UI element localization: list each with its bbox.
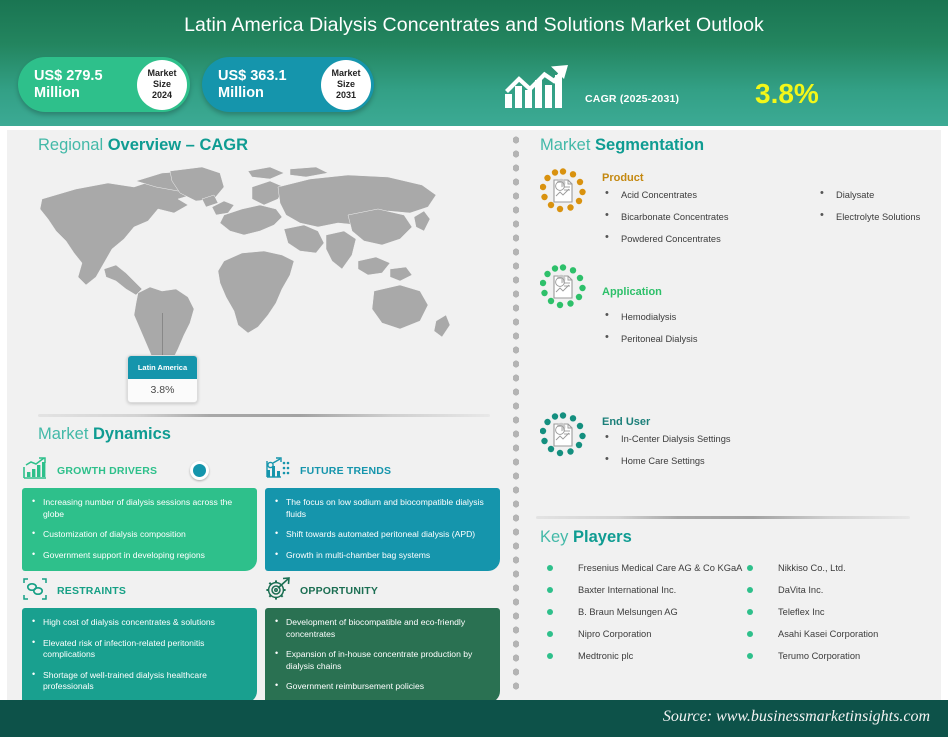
restraints-box: High cost of dialysis concentrates & sol…: [22, 608, 257, 703]
segmentation-title-light: Market: [540, 136, 595, 154]
end-user-items-col1: In-Center Dialysis Settings Home Care Se…: [602, 434, 731, 467]
dynamics-panel-growth-drivers: GROWTH DRIVERS Increasing number of dial…: [22, 458, 257, 571]
badge-line-3: 2031: [336, 90, 356, 101]
document-chart-dots-icon: [540, 168, 586, 214]
segmentation-block-product: Product Acid Concentrates Bicarbonate Co…: [540, 168, 940, 268]
list-item: Development of biocompatible and eco-fri…: [273, 617, 490, 640]
list-item: Shortage of well-trained dialysis health…: [30, 670, 247, 693]
list-item: Powdered Concentrates: [602, 234, 729, 245]
key-players-column-2: Nikkiso Co., Ltd. DaVita Inc. Teleflex I…: [744, 562, 944, 672]
segmentation-title-bold: Segmentation: [595, 136, 704, 154]
segment-name-application: Application: [602, 286, 662, 298]
cagr-value: 3.8%: [755, 78, 819, 110]
list-item: Dialysate: [817, 190, 920, 201]
list-item: Customization of dialysis composition: [30, 529, 247, 541]
future-trends-header: FUTURE TRENDS: [265, 458, 500, 484]
gear-target-arrow-icon: [265, 577, 291, 606]
dynamics-title-light: Market: [38, 425, 93, 443]
market-size-2024-value-line1: US$ 279.5: [34, 68, 103, 84]
footer-bar: Source: www.businessmarketinsights.com: [0, 700, 948, 737]
application-items-col1: Hemodialysis Peritoneal Dialysis: [602, 312, 697, 345]
trend-analytics-icon: [265, 457, 291, 486]
list-item: Nipro Corporation: [544, 628, 744, 640]
list-item: Asahi Kasei Corporation: [744, 628, 944, 640]
badge-line-1: Market: [331, 68, 360, 79]
segment-name-product: Product: [602, 172, 644, 184]
list-item: Nikkiso Co., Ltd.: [744, 562, 944, 574]
list-item: Baxter International Inc.: [544, 584, 744, 596]
list-item: B. Braun Melsungen AG: [544, 606, 744, 618]
restraints-header: RESTRAINTS: [22, 578, 257, 604]
dynamics-panel-restraints: RESTRAINTS High cost of dialysis concent…: [22, 578, 257, 703]
list-item: High cost of dialysis concentrates & sol…: [30, 617, 247, 629]
broken-chain-icon: [22, 577, 48, 606]
badge-line-2: Size: [337, 79, 355, 90]
list-item: Increasing number of dialysis sessions a…: [30, 497, 247, 520]
list-item: Home Care Settings: [602, 456, 731, 467]
growth-drivers-box: Increasing number of dialysis sessions a…: [22, 488, 257, 571]
market-size-2031-badge: Market Size 2031: [321, 60, 371, 110]
opportunity-list: Development of biocompatible and eco-fri…: [273, 617, 490, 693]
market-size-2024-value: US$ 279.5 Million: [18, 68, 137, 102]
world-map: [38, 165, 498, 405]
badge-line-3: 2024: [152, 90, 172, 101]
market-size-2024-value-line2: Million: [34, 85, 137, 102]
list-item: Growth in multi-chamber bag systems: [273, 550, 490, 562]
future-trends-list: The focus on low sodium and biocompatibl…: [273, 497, 490, 561]
list-item: Teleflex Inc: [744, 606, 944, 618]
divider-above-key-players: [536, 516, 910, 519]
list-item: Government reimbursement policies: [273, 681, 490, 693]
future-trends-box: The focus on low sodium and biocompatibl…: [265, 488, 500, 571]
key-players-title-bold: Players: [573, 528, 632, 546]
future-trends-label: FUTURE TRENDS: [300, 465, 391, 477]
market-size-2031-value-line2: Million: [218, 85, 321, 102]
divider-above-dynamics: [38, 414, 490, 417]
opportunity-header: OPPORTUNITY: [265, 578, 500, 604]
market-segmentation-title: Market Segmentation: [540, 136, 704, 155]
segment-name-end-user: End User: [602, 416, 650, 428]
bar-chart-growth-icon: [22, 457, 48, 486]
list-item: Electrolyte Solutions: [817, 212, 920, 223]
market-size-2031-value-line1: US$ 363.1: [218, 68, 287, 84]
list-item: Fresenius Medical Care AG & Co KGaA: [544, 562, 744, 574]
list-item: The focus on low sodium and biocompatibl…: [273, 497, 490, 520]
key-players-title: Key Players: [540, 528, 632, 547]
key-players-list-2: Nikkiso Co., Ltd. DaVita Inc. Teleflex I…: [744, 562, 944, 662]
list-item: Government support in developing regions: [30, 550, 247, 562]
pin-stem: [162, 313, 163, 358]
source-text: Source: www.businessmarketinsights.com: [663, 708, 930, 726]
list-item: Terumo Corporation: [744, 650, 944, 662]
segment-items-product: Acid Concentrates Bicarbonate Concentrat…: [602, 190, 729, 256]
badge-line-2: Size: [153, 79, 171, 90]
opportunity-label: OPPORTUNITY: [300, 585, 378, 597]
page-title: Latin America Dialysis Concentrates and …: [0, 14, 948, 37]
regional-title-bold: Overview – CAGR: [108, 136, 248, 154]
restraints-label: RESTRAINTS: [57, 585, 126, 597]
product-items-col2: Dialysate Electrolyte Solutions: [817, 190, 920, 234]
list-item: In-Center Dialysis Settings: [602, 434, 731, 445]
vertical-dotted-divider: [513, 133, 519, 693]
restraints-list: High cost of dialysis concentrates & sol…: [30, 617, 247, 693]
growth-drivers-header: GROWTH DRIVERS: [22, 458, 257, 484]
list-item: Hemodialysis: [602, 312, 697, 323]
key-players-column-1: Fresenius Medical Care AG & Co KGaA Baxt…: [544, 562, 744, 672]
latin-america-callout: Latin America 3.8%: [127, 355, 198, 403]
growth-drivers-list: Increasing number of dialysis sessions a…: [30, 497, 247, 561]
product-items-col1: Acid Concentrates Bicarbonate Concentrat…: [602, 190, 729, 245]
regional-overview-title: Regional Overview – CAGR: [38, 136, 248, 155]
list-item: Medtronic plc: [544, 650, 744, 662]
document-chart-dots-icon: [540, 264, 586, 310]
cagr-label: CAGR (2025-2031): [585, 93, 679, 105]
dynamics-panel-opportunity: OPPORTUNITY Development of biocompatible…: [265, 578, 500, 703]
segmentation-block-application: Application Hemodialysis Peritoneal Dial…: [540, 264, 940, 364]
list-item: Elevated risk of infection-related perit…: [30, 638, 247, 661]
market-size-2031-value: US$ 363.1 Million: [202, 68, 321, 102]
regional-title-light: Regional: [38, 136, 108, 154]
market-dynamics-title: Market Dynamics: [38, 425, 171, 444]
document-chart-dots-icon: [540, 412, 586, 458]
list-item: Shift towards automated peritoneal dialy…: [273, 529, 490, 541]
market-size-pill-2031: US$ 363.1 Million Market Size 2031: [202, 57, 374, 112]
list-item: DaVita Inc.: [744, 584, 944, 596]
dynamics-panel-future-trends: FUTURE TRENDS The focus on low sodium an…: [265, 458, 500, 571]
infographic-root: Latin America Dialysis Concentrates and …: [0, 0, 948, 737]
key-players-title-light: Key: [540, 528, 573, 546]
segment-items-application: Hemodialysis Peritoneal Dialysis: [602, 312, 697, 356]
segment-items-end-user: In-Center Dialysis Settings Home Care Se…: [602, 434, 731, 478]
growth-drivers-label: GROWTH DRIVERS: [57, 465, 157, 477]
opportunity-box: Development of biocompatible and eco-fri…: [265, 608, 500, 703]
callout-cagr-value: 3.8%: [128, 379, 197, 402]
list-item: Peritoneal Dialysis: [602, 334, 697, 345]
key-players-list-1: Fresenius Medical Care AG & Co KGaA Baxt…: [544, 562, 744, 662]
list-item: Acid Concentrates: [602, 190, 729, 201]
list-item: Expansion of in-house concentrate produc…: [273, 649, 490, 672]
callout-region-label: Latin America: [128, 356, 197, 379]
dynamics-title-bold: Dynamics: [93, 425, 171, 443]
growth-chart-arrow-icon: [503, 62, 569, 115]
market-size-2024-badge: Market Size 2024: [137, 60, 187, 110]
segmentation-block-end-user: End User In-Center Dialysis Settings Hom…: [540, 412, 940, 502]
badge-line-1: Market: [147, 68, 176, 79]
market-size-pill-2024: US$ 279.5 Million Market Size 2024: [18, 57, 190, 112]
world-map-svg: [38, 165, 498, 405]
list-item: Bicarbonate Concentrates: [602, 212, 729, 223]
header-banner: Latin America Dialysis Concentrates and …: [0, 0, 948, 126]
